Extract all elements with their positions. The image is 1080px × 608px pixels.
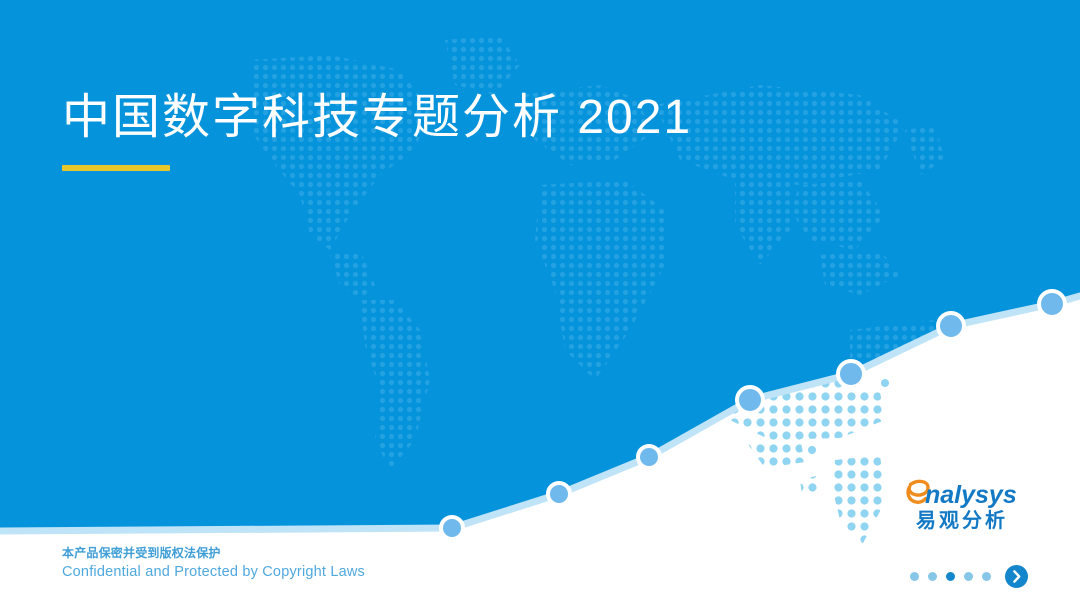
- title-block: 中国数字科技专题分析 2021: [62, 88, 692, 171]
- slide-pager[interactable]: [910, 565, 1028, 588]
- pager-dot-5[interactable]: [982, 572, 991, 581]
- copyright-notice-en: Confidential and Protected by Copyright …: [62, 562, 365, 583]
- slide-canvas: 中国数字科技专题分析 2021 本产品保密并受到版权法保护 Confidenti…: [0, 0, 1080, 608]
- analysys-wordmark-icon: nalysys: [898, 476, 1026, 510]
- brand-logo: nalysys 易观分析: [898, 476, 1026, 533]
- brand-name-cn: 易观分析: [898, 509, 1026, 533]
- copyright-notice-cn: 本产品保密并受到版权法保护: [62, 544, 365, 562]
- pager-dot-4[interactable]: [964, 572, 973, 581]
- pager-dot-3[interactable]: [946, 572, 955, 581]
- pager-dot-2[interactable]: [928, 572, 937, 581]
- title-underline-rule: [62, 165, 170, 171]
- page-title: 中国数字科技专题分析 2021: [62, 88, 692, 148]
- analysys-wordmark-text: nalysys: [925, 481, 1017, 509]
- next-slide-button[interactable]: [1005, 565, 1028, 588]
- pager-dot-1[interactable]: [910, 572, 919, 581]
- copyright-notice: 本产品保密并受到版权法保护 Confidential and Protected…: [62, 544, 365, 583]
- chevron-right-icon: [1005, 565, 1028, 588]
